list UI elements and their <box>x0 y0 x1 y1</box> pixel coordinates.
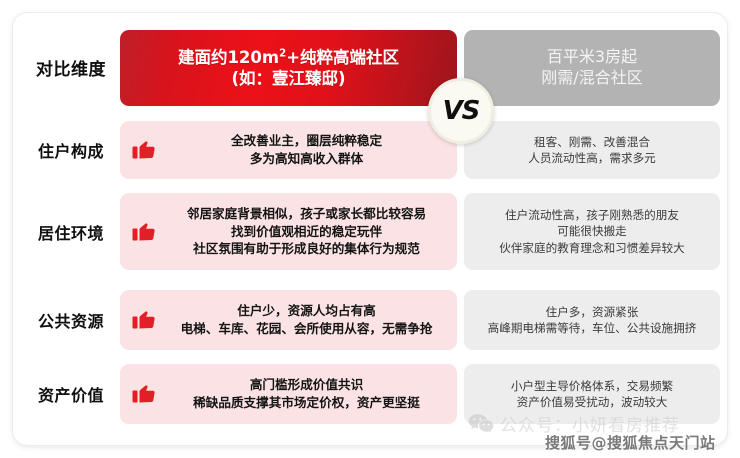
con-line: 可能很快搬走 <box>472 223 712 239</box>
pro-line: 找到价值观相近的稳定玩伴 <box>164 223 449 241</box>
table-header-row: 对比维度 建面约120m2+纯粹高端社区 (如：壹江臻邸) 百平米3房起 刚需/… <box>13 13 727 121</box>
con-line: 租客、刚需、改善混合 <box>472 134 712 150</box>
con-cell-text-3: 小户型主导价格体系，交易频繁 资产价值易受扰动，波动较大 <box>472 378 712 411</box>
pro-line: 社区氛围有助于形成良好的集体行为规范 <box>164 240 449 258</box>
table-row: 住户构成 全改善业主，圈层纯粹稳定 多为高知高收入群体 租客、刚需、改善混合 人… <box>13 121 727 179</box>
con-cell-1: 住户流动性高，孩子刚熟悉的朋友 可能很快搬走 伙伴家庭的教育理念和习惯差异较大 <box>464 193 720 270</box>
table-row: 公共资源 住户少，资源人均占有高 电梯、车库、花园、会所使用从容，无需争抢 住户… <box>13 290 727 350</box>
pro-cell-text-2: 住户少，资源人均占有高 电梯、车库、花园、会所使用从容，无需争抢 <box>164 302 449 338</box>
vs-badge-label: VS <box>443 96 480 126</box>
pro-column-header-line2: (如：壹江臻邸) <box>231 68 345 89</box>
con-line: 住户流动性高，孩子刚熟悉的朋友 <box>472 207 712 223</box>
pro-header-text-a: 建面约120m <box>178 48 279 67</box>
pro-line: 多为高知高收入群体 <box>164 150 449 168</box>
pro-cell-text-3: 高门槛形成价值共识 稀缺品质支撑其市场定价权，资产更坚挺 <box>164 376 449 412</box>
pro-cell-2: 住户少，资源人均占有高 电梯、车库、花园、会所使用从容，无需争抢 <box>120 290 457 350</box>
row-label-0: 住户构成 <box>21 121 121 179</box>
row-label-2: 公共资源 <box>21 290 121 350</box>
pro-line: 邻居家庭背景相似，孩子或家长都比较容易 <box>164 205 449 223</box>
comparison-infographic: 对比维度 建面约120m2+纯粹高端社区 (如：壹江臻邸) 百平米3房起 刚需/… <box>0 0 740 458</box>
pro-cell-text-1: 邻居家庭背景相似，孩子或家长都比较容易 找到价值观相近的稳定玩伴 社区氛围有助于… <box>164 205 449 259</box>
pro-line: 住户少，资源人均占有高 <box>164 302 449 320</box>
pro-column-header: 建面约120m2+纯粹高端社区 (如：壹江臻邸) <box>120 30 457 106</box>
con-cell-3: 小户型主导价格体系，交易频繁 资产价值易受扰动，波动较大 <box>464 364 720 424</box>
pro-header-text-b: +纯粹高端社区 <box>286 48 399 67</box>
con-cell-text-2: 住户多，资源紧张 高峰期电梯需等待，车位、公共设施拥挤 <box>472 304 712 337</box>
table-row: 居住环境 邻居家庭背景相似，孩子或家长都比较容易 找到价值观相近的稳定玩伴 社区… <box>13 193 727 270</box>
con-line: 资产价值易受扰动，波动较大 <box>472 394 712 410</box>
dimension-column-header: 对比维度 <box>21 13 121 121</box>
pro-cell-text-0: 全改善业主，圈层纯粹稳定 多为高知高收入群体 <box>164 132 449 168</box>
row-label-3: 资产价值 <box>21 364 121 424</box>
thumbs-up-icon <box>132 308 158 332</box>
pro-line: 高门槛形成价值共识 <box>164 376 449 394</box>
con-line: 小户型主导价格体系，交易频繁 <box>472 378 712 394</box>
pro-cell-1: 邻居家庭背景相似，孩子或家长都比较容易 找到价值观相近的稳定玩伴 社区氛围有助于… <box>120 193 457 270</box>
con-column-header-line2: 刚需/混合社区 <box>541 68 642 89</box>
pro-cell-3: 高门槛形成价值共识 稀缺品质支撑其市场定价权，资产更坚挺 <box>120 364 457 424</box>
thumbs-up-icon <box>132 220 158 244</box>
con-cell-text-1: 住户流动性高，孩子刚熟悉的朋友 可能很快搬走 伙伴家庭的教育理念和习惯差异较大 <box>472 207 712 256</box>
pro-line: 全改善业主，圈层纯粹稳定 <box>164 132 449 150</box>
pro-column-header-line1: 建面约120m2+纯粹高端社区 <box>178 47 399 68</box>
con-column-header: 百平米3房起 刚需/混合社区 <box>464 30 720 106</box>
con-cell-text-0: 租客、刚需、改善混合 人员流动性高，需求多元 <box>472 134 712 167</box>
con-line: 住户多，资源紧张 <box>472 304 712 320</box>
pro-line: 稀缺品质支撑其市场定价权，资产更坚挺 <box>164 394 449 412</box>
pro-line: 电梯、车库、花园、会所使用从容，无需争抢 <box>164 320 449 338</box>
con-cell-2: 住户多，资源紧张 高峰期电梯需等待，车位、公共设施拥挤 <box>464 290 720 350</box>
comparison-card: 对比维度 建面约120m2+纯粹高端社区 (如：壹江臻邸) 百平米3房起 刚需/… <box>13 13 727 445</box>
con-line: 伙伴家庭的教育理念和习惯差异较大 <box>472 240 712 256</box>
con-line: 人员流动性高，需求多元 <box>472 150 712 166</box>
thumbs-up-icon <box>132 138 158 162</box>
thumbs-up-icon <box>132 382 158 406</box>
con-column-header-line1: 百平米3房起 <box>547 47 637 68</box>
pro-cell-0: 全改善业主，圈层纯粹稳定 多为高知高收入群体 <box>120 121 457 179</box>
con-line: 高峰期电梯需等待，车位、公共设施拥挤 <box>472 320 712 336</box>
table-row: 资产价值 高门槛形成价值共识 稀缺品质支撑其市场定价权，资产更坚挺 小户型主导价… <box>13 364 727 424</box>
con-cell-0: 租客、刚需、改善混合 人员流动性高，需求多元 <box>464 121 720 179</box>
vs-badge: VS <box>428 78 494 144</box>
row-label-1: 居住环境 <box>21 193 121 270</box>
